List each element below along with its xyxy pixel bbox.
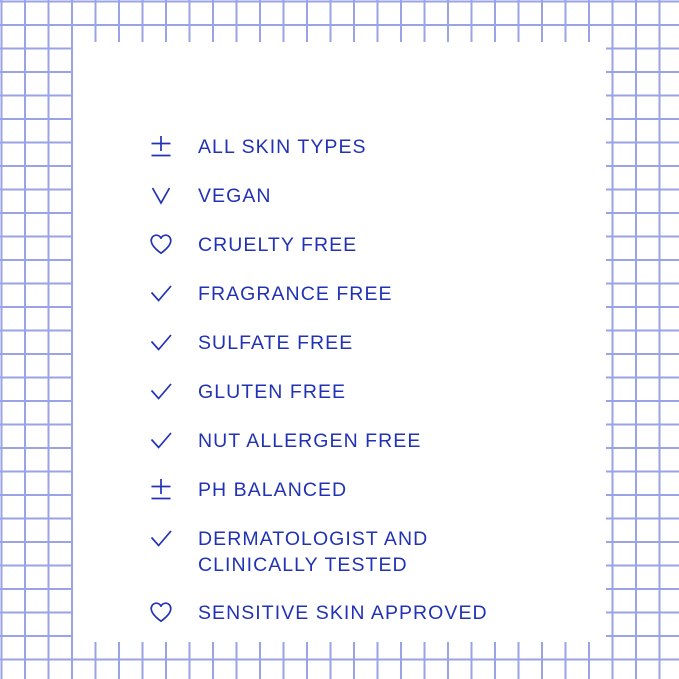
claim-label: SENSITIVE SKIN APPROVED (198, 599, 488, 626)
claim-item: SULFATE FREE (149, 329, 353, 356)
claim-item: VEGAN (149, 182, 272, 209)
claim-label-line-1: PH BALANCED (198, 479, 347, 501)
claim-label-line-1: SENSITIVE SKIN APPROVED (198, 602, 488, 624)
claim-item: CRUELTY FREE (149, 231, 357, 258)
claim-label-line-1: DERMATOLOGIST AND (198, 528, 428, 550)
claim-item: ALL SKIN TYPES (149, 133, 367, 160)
heart-outline-icon (149, 599, 179, 626)
claim-label: GLUTEN FREE (198, 378, 346, 405)
claim-item: FRAGRANCE FREE (149, 280, 393, 307)
claim-label: VEGAN (198, 182, 272, 209)
claim-label-line-1: ALL SKIN TYPES (198, 136, 367, 158)
claim-label: NUT ALLERGEN FREE (198, 427, 421, 454)
plus-minus-icon (149, 133, 179, 160)
checkmark-icon (149, 525, 179, 552)
checkmark-icon (149, 427, 179, 454)
claim-label: DERMATOLOGIST ANDCLINICALLY TESTED (198, 525, 428, 578)
claims-card: ALL SKIN TYPESVEGANCRUELTY FREEFRAGRANCE… (73, 42, 606, 642)
claim-label: PH BALANCED (198, 476, 347, 503)
claim-label-line-1: SULFATE FREE (198, 332, 353, 354)
claim-label-line-1: NUT ALLERGEN FREE (198, 430, 421, 452)
claim-label: CRUELTY FREE (198, 231, 357, 258)
v-check-icon (149, 182, 179, 209)
claim-label: SULFATE FREE (198, 329, 353, 356)
claim-item: NUT ALLERGEN FREE (149, 427, 421, 454)
heart-outline-icon (149, 231, 179, 258)
plus-minus-icon (149, 476, 179, 503)
claim-item: GLUTEN FREE (149, 378, 346, 405)
claim-item: SENSITIVE SKIN APPROVED (149, 599, 488, 626)
claim-label-line-1: FRAGRANCE FREE (198, 283, 393, 305)
checkmark-icon (149, 280, 179, 307)
claim-label-line-1: GLUTEN FREE (198, 381, 346, 403)
checkmark-icon (149, 329, 179, 356)
claim-item: DERMATOLOGIST ANDCLINICALLY TESTED (149, 525, 428, 578)
claim-label-line-2: CLINICALLY TESTED (198, 552, 428, 578)
claim-label-line-1: CRUELTY FREE (198, 234, 357, 256)
claim-label: FRAGRANCE FREE (198, 280, 393, 307)
claim-label: ALL SKIN TYPES (198, 133, 367, 160)
claims-list: ALL SKIN TYPESVEGANCRUELTY FREEFRAGRANCE… (73, 42, 606, 642)
claim-item: PH BALANCED (149, 476, 347, 503)
checkmark-icon (149, 378, 179, 405)
claims-infographic: ALL SKIN TYPESVEGANCRUELTY FREEFRAGRANCE… (0, 0, 679, 679)
claim-label-line-1: VEGAN (198, 185, 272, 207)
